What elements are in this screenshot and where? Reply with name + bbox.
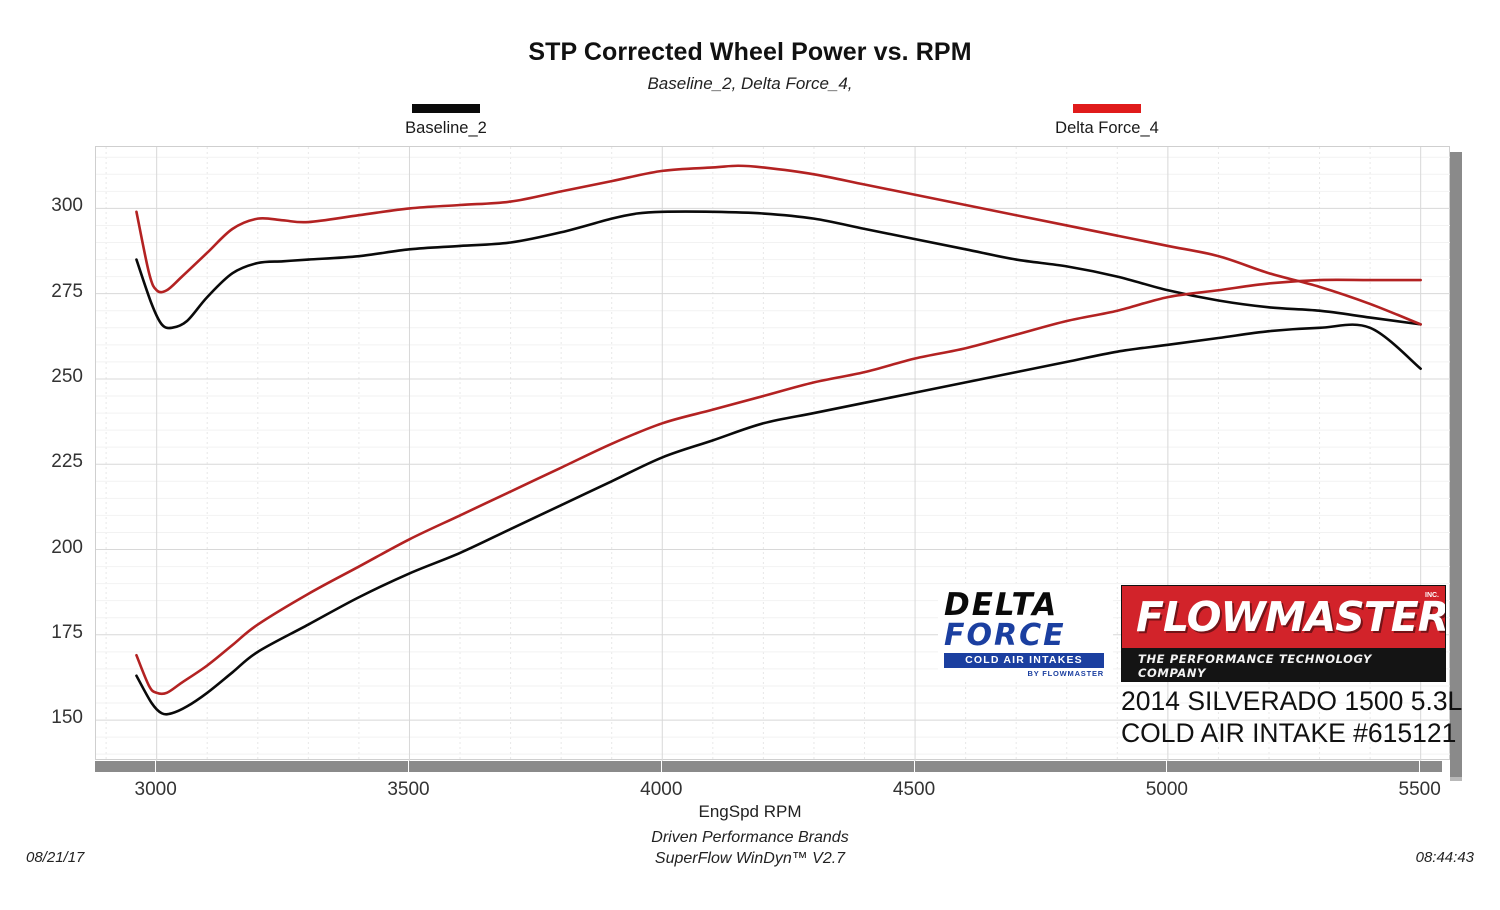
x-axis-tick-mark	[1166, 761, 1167, 772]
x-axis-title: EngSpd RPM	[0, 802, 1500, 822]
x-axis-tick-label: 5500	[1375, 779, 1465, 801]
legend-label-baseline: Baseline_2	[371, 119, 521, 138]
flowmaster-wordmark: FLOWMASTER	[1136, 588, 1436, 646]
x-axis-tick-mark	[914, 761, 915, 772]
x-axis-tick-mark	[1419, 761, 1420, 772]
delta-force-logo: DELTA FORCE COLD AIR INTAKES BY FLOWMAST…	[938, 585, 1113, 682]
footer-software-info: Driven Performance Brands SuperFlow WinD…	[0, 827, 1500, 869]
x-axis-tick-mark	[408, 761, 409, 772]
flowmaster-tagline: THE PERFORMANCE TECHNOLOGY COMPANY	[1138, 652, 1438, 680]
delta-force-logo-subtitle: COLD AIR INTAKES	[944, 653, 1104, 668]
vehicle-part-number-line: COLD AIR INTAKE #615121	[1121, 718, 1451, 749]
footer-software: SuperFlow WinDyn™ V2.7	[0, 848, 1500, 869]
footer-brand: Driven Performance Brands	[0, 827, 1500, 848]
series-line	[136, 166, 1420, 325]
legend-swatch-baseline	[412, 104, 480, 113]
delta-force-logo-force: FORCE	[944, 619, 1108, 653]
y-axis-tick-label: 150	[23, 707, 83, 729]
y-axis-tick-label: 225	[23, 451, 83, 473]
x-axis-tick-label: 4500	[869, 779, 959, 801]
page-title: STP Corrected Wheel Power vs. RPM	[0, 38, 1500, 67]
legend-label-delta-force: Delta Force_4	[1012, 119, 1202, 138]
product-badge: DELTA FORCE COLD AIR INTAKES BY FLOWMAST…	[938, 585, 1446, 760]
flowmaster-logo: FLOWMASTER INC. THE PERFORMANCE TECHNOLO…	[1121, 585, 1446, 682]
footer-date: 08/21/17	[26, 849, 84, 866]
x-axis-tick-label: 5000	[1122, 779, 1212, 801]
legend-item-baseline: Baseline_2	[371, 104, 521, 138]
y-axis-tick-label: 300	[23, 195, 83, 217]
x-axis-tick-mark	[155, 761, 156, 772]
x-axis-tick-label: 3000	[111, 779, 201, 801]
x-axis-tick-mark	[661, 761, 662, 772]
flowmaster-inc-mark: INC.	[1425, 592, 1439, 599]
footer-time: 08:44:43	[1416, 849, 1474, 866]
legend-swatch-delta-force	[1073, 104, 1141, 113]
dyno-chart-page: STP Corrected Wheel Power vs. RPM Baseli…	[0, 0, 1500, 910]
y-axis-tick-label: 200	[23, 537, 83, 559]
x-axis-tick-label: 4000	[616, 779, 706, 801]
chart-subtitle: Baseline_2, Delta Force_4,	[0, 74, 1500, 94]
y-axis-tick-label: 250	[23, 366, 83, 388]
delta-force-logo-byline: BY FLOWMASTER	[944, 669, 1104, 678]
y-axis-tick-label: 275	[23, 281, 83, 303]
x-axis-tick-label: 3500	[363, 779, 453, 801]
legend-item-delta-force: Delta Force_4	[1012, 104, 1202, 138]
x-axis-scale-bar[interactable]	[95, 761, 1442, 772]
y-axis-scale-bar[interactable]	[1450, 152, 1462, 777]
vehicle-description-line-1: 2014 SILVERADO 1500 5.3L	[1121, 686, 1451, 717]
y-axis-tick-label: 175	[23, 622, 83, 644]
